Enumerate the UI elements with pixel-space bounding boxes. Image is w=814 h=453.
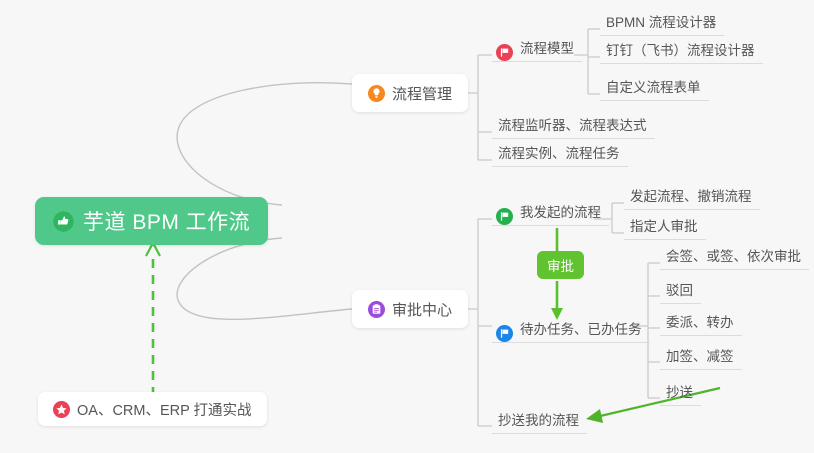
card-label: OA、CRM、ERP 打通实战 xyxy=(77,399,252,420)
branch-node-process-management[interactable]: 流程管理 xyxy=(352,74,468,112)
node-label: 抄送我的流程 xyxy=(498,413,579,433)
leaf-node-instance-task[interactable]: 流程实例、流程任务 xyxy=(492,139,628,167)
node-label: 指定人审批 xyxy=(630,219,698,239)
flag-icon xyxy=(496,44,513,61)
flag-icon xyxy=(496,208,513,225)
node-label: 发起流程、撤销流程 xyxy=(630,189,752,209)
leaf-node-delegate-transfer[interactable]: 委派、转办 xyxy=(660,308,742,336)
leaf-node-bpmn-designer[interactable]: BPMN 流程设计器 xyxy=(600,8,724,36)
leaf-node-multi-sign[interactable]: 会签、或签、依次审批 xyxy=(660,242,809,270)
node-label: 委派、转办 xyxy=(666,315,734,335)
lightbulb-icon xyxy=(368,85,385,102)
integration-link-arrow xyxy=(146,243,160,396)
node-process-model[interactable]: 流程模型 xyxy=(492,34,582,62)
root-node[interactable]: 芋道 BPM 工作流 xyxy=(35,197,268,245)
leaf-node-cc[interactable]: 抄送 xyxy=(660,378,701,406)
node-label: 加签、减签 xyxy=(666,349,734,369)
badge-label: 审批 xyxy=(547,255,574,275)
node-label: 我发起的流程 xyxy=(520,205,601,225)
node-my-initiated-processes[interactable]: 我发起的流程 xyxy=(492,198,609,226)
leaf-node-dingtalk-designer[interactable]: 钉钉（飞书）流程设计器 xyxy=(600,36,763,64)
node-label: 钉钉（飞书）流程设计器 xyxy=(606,43,755,63)
node-label: 流程模型 xyxy=(520,41,574,61)
leaf-node-reject[interactable]: 驳回 xyxy=(660,276,701,304)
annotation-card-integration[interactable]: OA、CRM、ERP 打通实战 xyxy=(38,392,267,426)
leaf-node-custom-form[interactable]: 自定义流程表单 xyxy=(600,73,709,101)
branch-label: 审批中心 xyxy=(392,299,452,320)
node-label: 驳回 xyxy=(666,283,693,303)
mindmap-canvas: 芋道 BPM 工作流 流程管理 流程模型 BPMN 流程设计器 钉钉（飞书）流程 xyxy=(0,0,814,453)
leaf-node-cc-to-me[interactable]: 抄送我的流程 xyxy=(492,406,587,434)
leaf-node-initiate-cancel[interactable]: 发起流程、撤销流程 xyxy=(624,182,760,210)
branch-node-approval-center[interactable]: 审批中心 xyxy=(352,290,468,328)
star-icon xyxy=(53,401,70,418)
node-label: 流程实例、流程任务 xyxy=(498,146,620,166)
flag-icon xyxy=(496,325,513,342)
clipboard-icon xyxy=(368,301,385,318)
leaf-node-assignee-approval[interactable]: 指定人审批 xyxy=(624,212,706,240)
leaf-node-add-remove-sign[interactable]: 加签、减签 xyxy=(660,342,742,370)
node-label: 待办任务、已办任务 xyxy=(520,322,642,342)
node-label: 抄送 xyxy=(666,385,693,405)
node-label: BPMN 流程设计器 xyxy=(606,15,716,35)
node-label: 流程监听器、流程表达式 xyxy=(498,118,647,138)
thumbs-up-icon xyxy=(53,211,74,232)
leaf-node-listener-expression[interactable]: 流程监听器、流程表达式 xyxy=(492,111,655,139)
annotation-badge-approval[interactable]: 审批 xyxy=(537,251,584,279)
node-label: 自定义流程表单 xyxy=(606,80,701,100)
node-label: 会签、或签、依次审批 xyxy=(666,249,801,269)
root-label: 芋道 BPM 工作流 xyxy=(83,206,250,236)
branch-label: 流程管理 xyxy=(392,83,452,104)
node-todo-done-tasks[interactable]: 待办任务、已办任务 xyxy=(492,315,650,343)
